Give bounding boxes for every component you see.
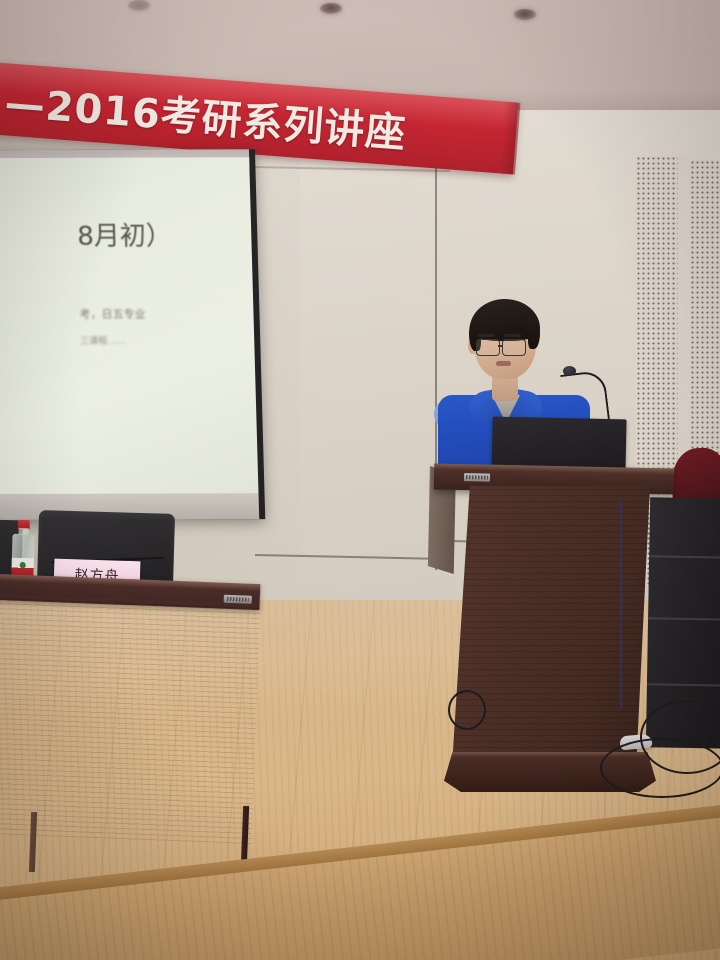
slide-body-line-2: 三课程……: [80, 334, 125, 347]
rack-seam: [648, 617, 720, 620]
tree-logo-icon: [20, 561, 26, 568]
projection-screen: 8月初） 考，日五专业 三课程……: [0, 149, 265, 521]
slide-heading: 8月初）: [77, 216, 173, 253]
rack-seam: [649, 555, 720, 558]
slide-body-line-1: 考，日五专业: [79, 306, 145, 322]
glasses-bridge: [498, 345, 503, 347]
floor-cable: [600, 738, 720, 798]
head-table-front: [0, 592, 260, 844]
hair-side-right: [528, 317, 540, 349]
rack-seam: [647, 683, 720, 686]
recessed-ceiling-spotlight: [128, 0, 150, 11]
mouth: [496, 361, 511, 366]
wall-cable: [620, 500, 622, 710]
eyebrow-right: [504, 334, 521, 337]
glasses-lens-left: [476, 339, 500, 356]
eyebrow-left: [478, 334, 495, 337]
microphone-head-icon: [563, 366, 576, 376]
glasses-lens-right: [502, 339, 526, 356]
podium-cable: [448, 690, 486, 730]
lecture-hall-photo: —2016考研系列讲座 8月初） 考，日五专业 三课程……: [0, 0, 720, 960]
podium-brand-plate: [464, 473, 490, 482]
slide-surface: 8月初） 考，日五专业 三课程……: [0, 157, 259, 497]
recessed-ceiling-spotlight: [320, 3, 342, 14]
table-wood-texture: [0, 592, 260, 844]
recessed-ceiling-spotlight: [514, 9, 536, 20]
